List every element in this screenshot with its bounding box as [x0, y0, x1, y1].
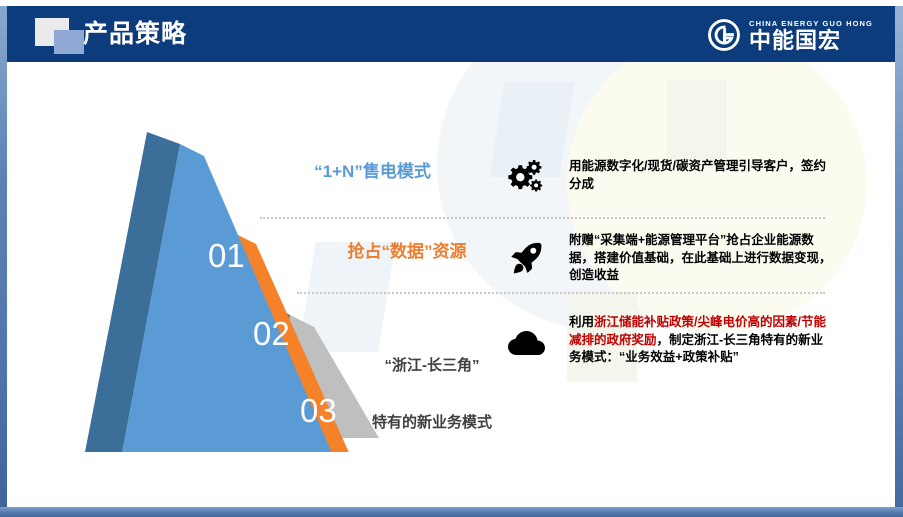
row-3-title: “浙江-长三角” 特有的新业务模式 — [357, 318, 507, 470]
divider-2 — [297, 292, 825, 294]
slide-canvas: 产品策略 CHINA ENERGY GUO HONG 中能国宏 — [0, 0, 903, 517]
cloud-icon — [507, 329, 547, 359]
pyramid-level-1-number: 01 — [208, 237, 245, 274]
row-1-title: “1+N”售电模式 — [265, 162, 480, 181]
row-3-description: 利用浙江储能补贴政策/尖峰电价高的因素/节能减排的政府奖励，制定浙江-长三角特有… — [569, 314, 835, 367]
slide-border-right — [895, 0, 903, 517]
slide-body: 01 02 03 “1+N”售电模式 用能源数字化/现货/碳资产管理引导客户，签… — [7, 62, 895, 507]
watermark-square-green-icon — [667, 80, 727, 160]
row-2-description: 附赠“采集端+能源管理平台”抢占企业能源数据，搭建价值基础，在此基础上进行数据变… — [569, 232, 835, 285]
rocket-icon — [508, 240, 544, 276]
pyramid-level-3-number: 03 — [300, 392, 337, 429]
divider-1 — [260, 217, 825, 219]
pyramid-diagram: 01 02 03 — [37, 102, 397, 452]
page-title: 产品策略 — [83, 18, 187, 50]
company-logo: CHINA ENERGY GUO HONG 中能国宏 — [707, 15, 873, 55]
row-2-title: 抢占“数据”资源 — [307, 242, 507, 261]
row-1-description: 用能源数字化/现货/碳资产管理引导客户，签约分成 — [569, 158, 835, 193]
logo-english-text: CHINA ENERGY GUO HONG — [749, 19, 873, 28]
row-3-title-line-2: 特有的新业务模式 — [357, 413, 507, 432]
slide-border-left — [0, 0, 7, 517]
row-3-title-line-1: “浙江-长三角” — [357, 356, 507, 375]
circle-g-logo-icon — [707, 18, 741, 52]
slide-border-bottom — [0, 507, 903, 517]
logo-chinese-text: 中能国宏 — [749, 29, 873, 52]
header-bar: 产品策略 CHINA ENERGY GUO HONG 中能国宏 — [7, 6, 895, 62]
gears-icon — [504, 158, 544, 198]
header-square-blue-icon — [54, 30, 84, 54]
pyramid-level-2-number: 02 — [253, 315, 290, 352]
